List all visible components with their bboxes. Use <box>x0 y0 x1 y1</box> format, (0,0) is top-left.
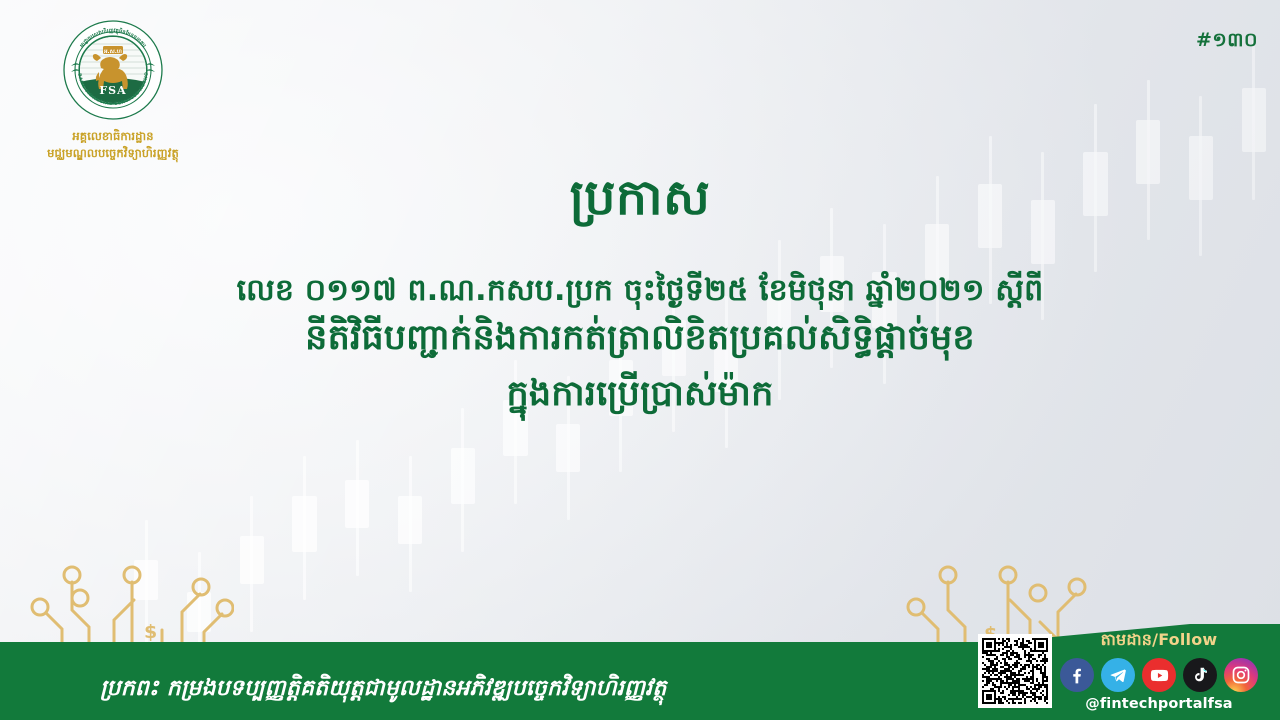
prakas-reference: លេខ ០១១៧ ព.ណ.កសប.ប្រក ចុះថ្ងៃទី២៥ ខែមិថុ… <box>40 268 1240 313</box>
organization-logo-block: អ.ស.ហ FSA អាជ្ញាធរសេវាហិរញ្ញវត្ថុមិនមែនធ… <box>14 18 212 161</box>
poster-canvas: $ $ <box>0 0 1280 720</box>
facebook-icon[interactable] <box>1060 658 1094 692</box>
tiktok-icon[interactable] <box>1183 658 1217 692</box>
candle-body <box>345 480 369 528</box>
candle-body <box>1242 88 1266 152</box>
svg-text:FSA: FSA <box>99 84 126 97</box>
svg-text:$: $ <box>144 621 157 643</box>
fsa-seal-logo: អ.ស.ហ FSA អាជ្ញាធរសេវាហិរញ្ញវត្ថុមិនមែនធ… <box>61 18 165 122</box>
follow-block: តាមដាន/Follow @fintechportalfsa <box>1052 629 1266 712</box>
candle-body <box>451 448 475 504</box>
headline-block: ប្រកាស លេខ ០១១៧ ព.ណ.កសប.ប្រក ចុះថ្ងៃទី២៥… <box>0 168 1280 420</box>
issue-hashtag: #១៣០ <box>1196 28 1258 56</box>
footer-caption: ប្រកពះ កម្រងបទប្បញ្ញត្តិគតិយុត្តជាមូលដ្ឋ… <box>100 674 880 706</box>
org-name-line2: មជ្ឈមណ្ឌលបច្ចេកវិទ្យាហិរញ្ញវត្ថុ <box>14 145 212 162</box>
telegram-icon[interactable] <box>1101 658 1135 692</box>
youtube-icon[interactable] <box>1142 658 1176 692</box>
prakas-subject-line2: ក្នុងការប្រើប្រាស់ម៉ាក <box>40 369 1240 421</box>
candle-body <box>292 496 316 552</box>
candle-body <box>240 536 264 584</box>
candle-body <box>398 496 422 544</box>
instagram-icon[interactable] <box>1224 658 1258 692</box>
social-handle: @fintechportalfsa <box>1052 696 1266 712</box>
candle-body <box>556 424 580 472</box>
page-title: ប្រកាស <box>40 168 1240 228</box>
qr-code[interactable] <box>978 634 1052 708</box>
follow-label: តាមដាន/Follow <box>1052 629 1266 653</box>
svg-text:អ.ស.ហ: អ.ស.ហ <box>103 49 122 55</box>
org-name-line1: អគ្គលេខាធិការដ្ឋាន <box>14 128 212 145</box>
social-links-row <box>1052 658 1266 692</box>
qr-code-image <box>982 638 1048 704</box>
prakas-subject-line1: នីតិវិធីបញ្ជាក់និងការកត់ត្រាលិខិតប្រគល់ស… <box>40 313 1240 365</box>
